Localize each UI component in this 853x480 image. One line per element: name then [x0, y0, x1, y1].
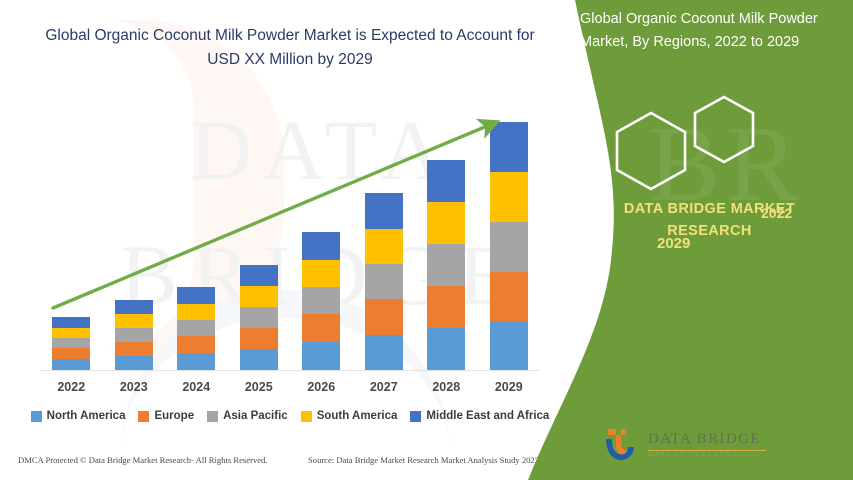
bar-segment	[115, 314, 153, 328]
x-axis-label: 2027	[354, 380, 414, 394]
bar-segment	[52, 348, 90, 359]
bar-segment	[490, 272, 528, 322]
legend-item: Europe	[138, 410, 194, 422]
legend-swatch	[301, 411, 312, 422]
bar-group	[490, 122, 528, 370]
panel-brand-line1: DATA BRIDGE MARKET	[624, 201, 795, 217]
bar-segment	[365, 264, 403, 299]
legend-label: South America	[317, 410, 398, 422]
bar-segment	[177, 287, 215, 304]
data-bridge-logo: DATA BRIDGE MARKET RESEARCH	[600, 424, 780, 466]
panel-content: Global Organic Coconut Milk Powder Marke…	[566, 0, 853, 480]
legend-label: Europe	[154, 410, 194, 422]
bar-segment	[177, 320, 215, 336]
bar-segment	[240, 328, 278, 349]
data-bridge-mark-icon	[600, 425, 640, 465]
bar-group	[302, 232, 340, 370]
x-axis-label: 2029	[479, 380, 539, 394]
hexagon-badges: 2029 2022	[601, 95, 831, 195]
bar-segment	[115, 328, 153, 342]
bar-segment	[52, 328, 90, 338]
panel-brand-line2: RESEARCH	[667, 223, 752, 239]
hexagon-outlines-icon	[601, 95, 831, 195]
legend-item: North America	[31, 410, 126, 422]
bar-segment	[302, 287, 340, 314]
legend-label: Asia Pacific	[223, 410, 288, 422]
panel-title: Global Organic Coconut Milk Powder Marke…	[580, 8, 853, 54]
bar-segment	[302, 232, 340, 260]
logo-divider	[648, 450, 766, 451]
bar-segment	[427, 328, 465, 370]
bar-segment	[427, 244, 465, 286]
bar-segment	[427, 286, 465, 328]
bar-group	[115, 300, 153, 370]
bar-segment	[302, 260, 340, 287]
bar-group	[365, 193, 403, 370]
bar-segment	[177, 336, 215, 353]
bar-segment	[490, 122, 528, 172]
bar-segment	[177, 304, 215, 320]
logo-tagline: MARKET RESEARCH	[648, 453, 766, 458]
bar-group	[177, 287, 215, 370]
x-axis-label: 2028	[416, 380, 476, 394]
bar-segment	[52, 317, 90, 328]
legend-label: North America	[47, 410, 126, 422]
legend-item: South America	[301, 410, 398, 422]
bar-segment	[365, 335, 403, 370]
panel-brand: DATA BRIDGE MARKET RESEARCH	[566, 198, 853, 243]
legend-swatch	[207, 411, 218, 422]
stacked-bars	[40, 110, 540, 370]
x-axis-label: 2025	[229, 380, 289, 394]
bar-segment	[240, 307, 278, 328]
bar-segment	[177, 353, 215, 370]
bar-segment	[302, 314, 340, 342]
bar-segment	[240, 265, 278, 286]
bar-segment	[52, 359, 90, 370]
chart-legend: North AmericaEuropeAsia PacificSouth Ame…	[30, 410, 550, 422]
bar-group	[427, 160, 465, 370]
x-axis-label: 2022	[41, 380, 101, 394]
footer-copyright: DMCA Protected © Data Bridge Market Rese…	[18, 455, 268, 465]
bar-segment	[427, 160, 465, 202]
bar-segment	[302, 342, 340, 370]
bar-segment	[115, 356, 153, 370]
bar-segment	[365, 229, 403, 264]
bar-segment	[427, 202, 465, 244]
legend-label: Middle East and Africa	[426, 410, 549, 422]
bar-group	[52, 317, 90, 370]
bar-segment	[240, 286, 278, 307]
bar-segment	[490, 322, 528, 370]
bar-segment	[240, 349, 278, 370]
legend-swatch	[31, 411, 42, 422]
legend-item: Asia Pacific	[207, 410, 288, 422]
infographic-root: DATA BRIDGE Global Organic Coconut Milk …	[0, 0, 853, 480]
x-axis-label: 2024	[166, 380, 226, 394]
bar-segment	[52, 338, 90, 348]
x-axis-labels: 20222023202420252026202720282029	[40, 380, 540, 400]
chart-baseline	[40, 370, 540, 371]
x-axis-label: 2023	[104, 380, 164, 394]
legend-item: Middle East and Africa	[410, 410, 549, 422]
bar-segment	[490, 172, 528, 222]
logo-text-block: DATA BRIDGE MARKET RESEARCH	[648, 432, 766, 458]
bar-segment	[365, 299, 403, 335]
x-axis-label: 2026	[291, 380, 351, 394]
footer-source: Source: Data Bridge Market Research Mark…	[308, 455, 539, 465]
legend-swatch	[138, 411, 149, 422]
bar-segment	[365, 193, 403, 229]
bar-group	[240, 265, 278, 370]
bar-segment	[490, 222, 528, 272]
logo-name: DATA BRIDGE	[648, 432, 766, 447]
bar-segment	[115, 300, 153, 314]
chart-plot-area: 20222023202420252026202720282029	[0, 0, 570, 400]
bar-segment	[115, 342, 153, 356]
legend-swatch	[410, 411, 421, 422]
